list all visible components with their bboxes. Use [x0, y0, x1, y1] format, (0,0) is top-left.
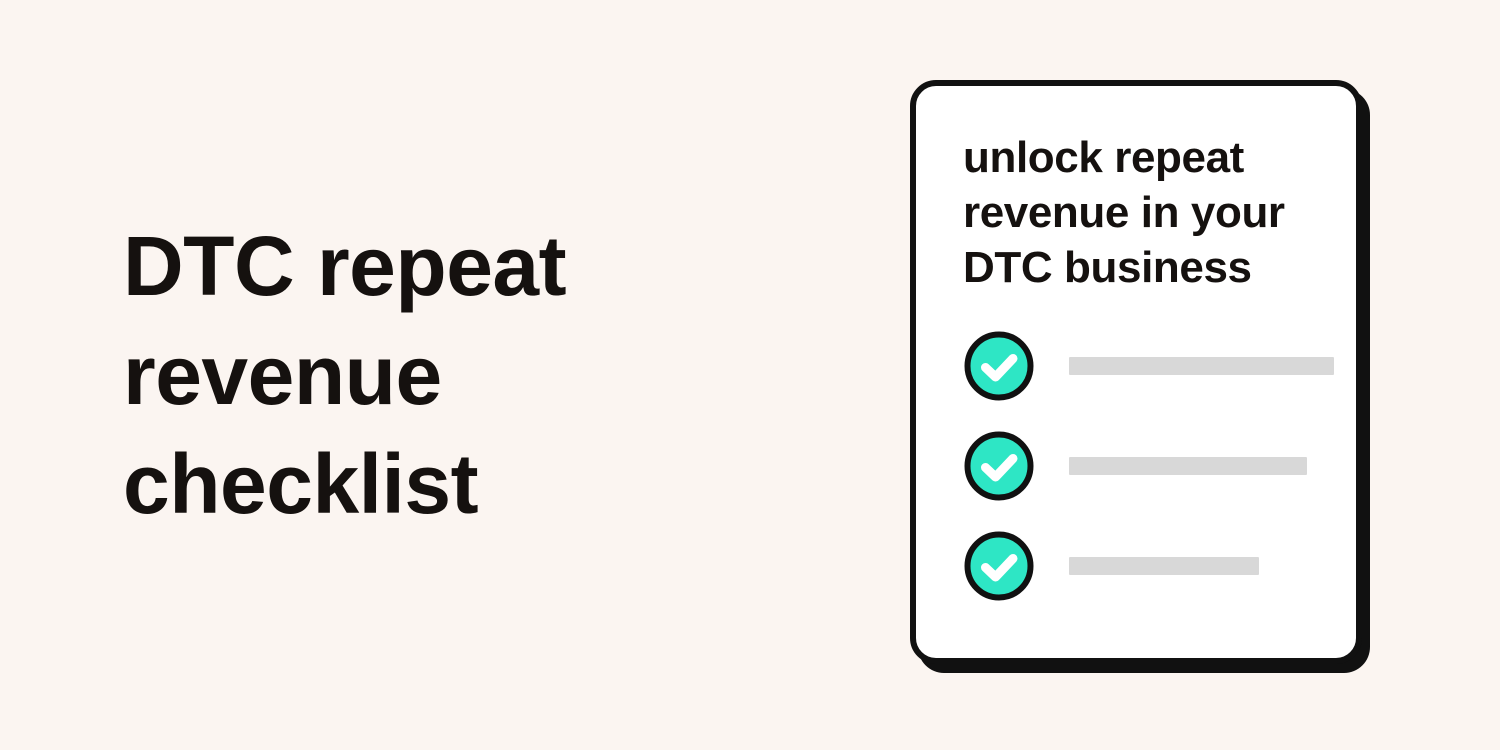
list-item-text-placeholder [1035, 357, 1334, 375]
list-item-text-placeholder [1035, 457, 1333, 475]
page-title: DTC repeat revenue checklist [123, 212, 763, 539]
list-item-text-placeholder [1035, 557, 1333, 575]
list-item[interactable] [963, 330, 1333, 402]
list-item[interactable] [963, 430, 1333, 502]
checklist-items [963, 330, 1333, 602]
check-circle-icon [963, 430, 1035, 502]
checklist-card: unlock repeat revenue in your DTC busine… [910, 80, 1362, 664]
placeholder-bar [1069, 557, 1259, 575]
placeholder-bar [1069, 357, 1334, 375]
check-circle-icon [963, 330, 1035, 402]
checklist-card-title: unlock repeat revenue in your DTC busine… [963, 130, 1333, 295]
placeholder-bar [1069, 457, 1307, 475]
list-item[interactable] [963, 530, 1333, 602]
promo-banner: DTC repeat revenue checklist unlock repe… [0, 0, 1500, 750]
check-circle-icon [963, 530, 1035, 602]
